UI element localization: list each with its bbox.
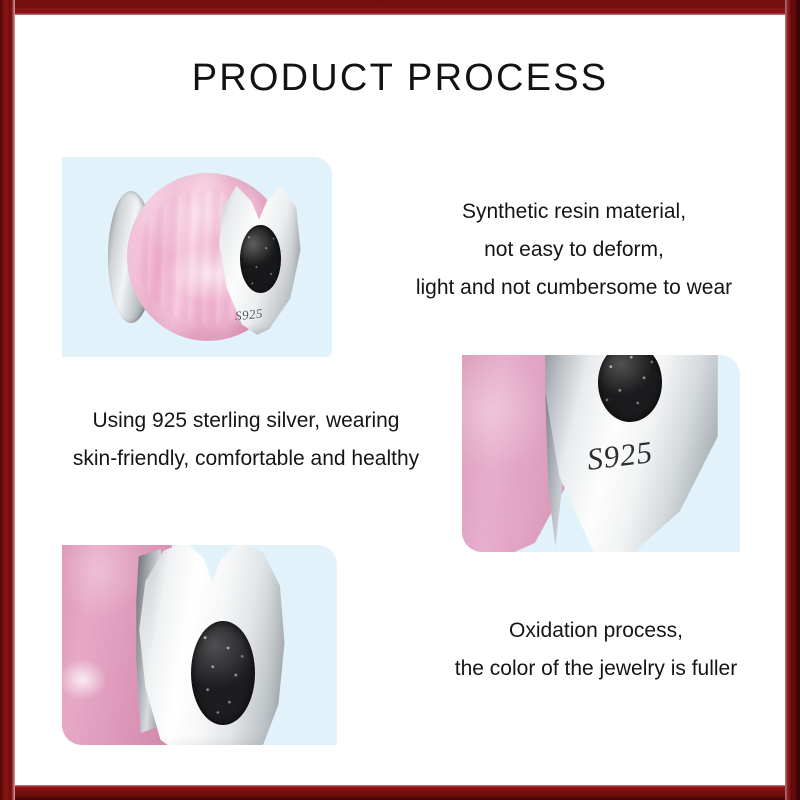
caption-line: Using 925 sterling silver, wearing [36,402,456,440]
heart-cap-illustration [62,545,337,745]
product-process-infographic: PRODUCT PROCESS S925 S925 Synthet [0,0,800,800]
heart-macro-dark-inlay [191,621,254,725]
frame-border-top [0,0,800,15]
caption-line: not easy to deform, [392,231,756,269]
frame-border-right [785,0,800,800]
caption-synthetic-resin: Synthetic resin material, not easy to de… [392,193,756,307]
product-photo-heart-cap-macro [62,545,337,745]
s925-macro-illustration: S925 [462,355,740,552]
bead-illustration: S925 [62,157,332,357]
macro-s925-stamp: S925 [585,434,655,478]
caption-line: the color of the jewelry is fuller [420,650,772,688]
caption-line: skin-friendly, comfortable and healthy [36,440,456,478]
caption-line: Synthetic resin material, [392,193,756,231]
frame-border-bottom [0,785,800,800]
caption-sterling-silver: Using 925 sterling silver, wearing skin-… [36,402,456,478]
product-photo-bead-full: S925 [62,157,332,357]
frame-border-left [0,0,15,800]
page-title: PRODUCT PROCESS [0,57,800,100]
bead-dark-inlay [240,225,281,293]
caption-line: light and not cumbersome to wear [392,269,756,307]
bead-s925-stamp: S925 [234,306,264,325]
product-photo-s925-macro: S925 [462,355,740,552]
caption-line: Oxidation process, [420,612,772,650]
caption-oxidation-process: Oxidation process, the color of the jewe… [420,612,772,688]
